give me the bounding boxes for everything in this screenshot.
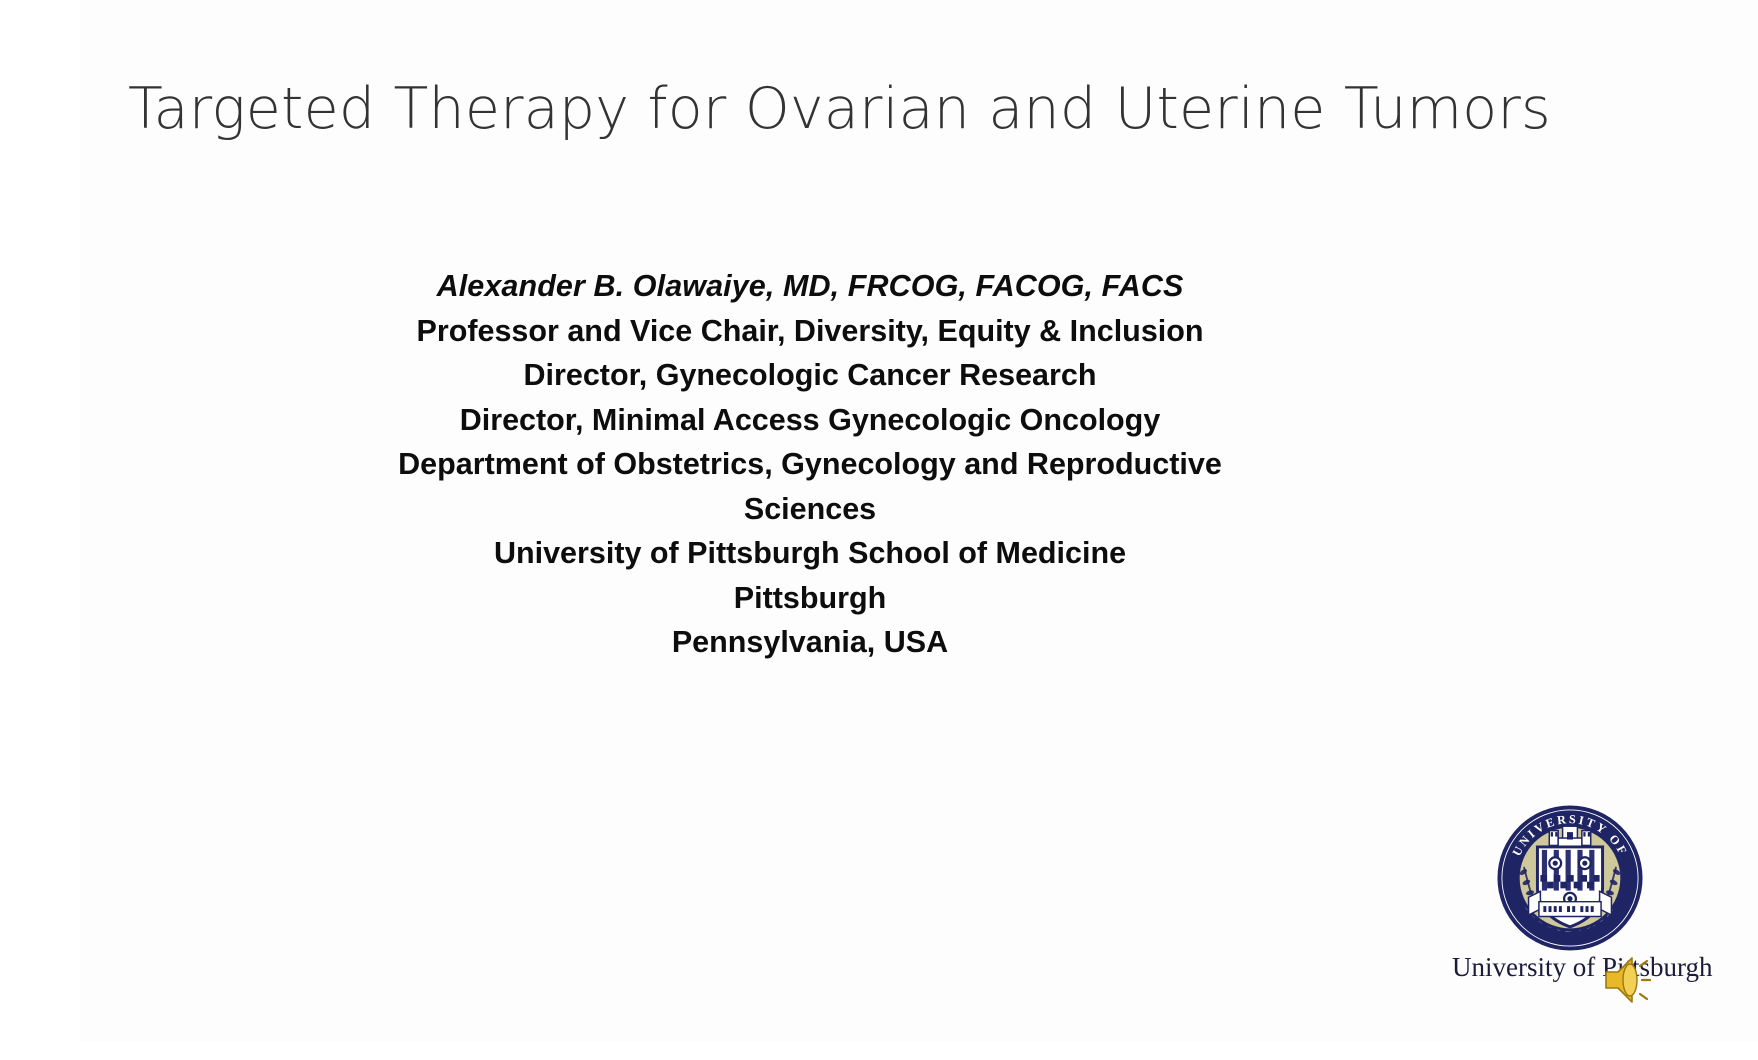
university-wordmark: University of Pittsburgh xyxy=(1452,952,1710,983)
university-logo: UNIVERSITY OF PITTSBURGH xyxy=(1452,800,1712,1000)
speaker-audio-icon[interactable] xyxy=(1600,952,1662,1008)
author-role-line-1: Director, Gynecologic Cancer Research xyxy=(330,353,1290,398)
page-title: Targeted Therapy for Ovarian and Uterine… xyxy=(128,78,1608,142)
author-department-cont: Sciences xyxy=(330,487,1290,532)
author-state-line: Pennsylvania, USA xyxy=(330,620,1290,665)
author-title-line: Professor and Vice Chair, Diversity, Equ… xyxy=(330,309,1290,354)
author-affiliation-block: Alexander B. Olawaiye, MD, FRCOG, FACOG,… xyxy=(330,264,1290,665)
author-role-line-2: Director, Minimal Access Gynecologic Onc… xyxy=(330,398,1290,443)
university-seal-icon: UNIVERSITY OF PITTSBURGH xyxy=(1496,804,1644,952)
author-institution-line: University of Pittsburgh School of Medic… xyxy=(330,531,1290,576)
author-city-line: Pittsburgh xyxy=(330,576,1290,621)
author-department-line: Department of Obstetrics, Gynecology and… xyxy=(330,442,1290,487)
author-name-line: Alexander B. Olawaiye, MD, FRCOG, FACOG,… xyxy=(330,264,1290,309)
slide-canvas: Targeted Therapy for Ovarian and Uterine… xyxy=(0,0,1758,1060)
